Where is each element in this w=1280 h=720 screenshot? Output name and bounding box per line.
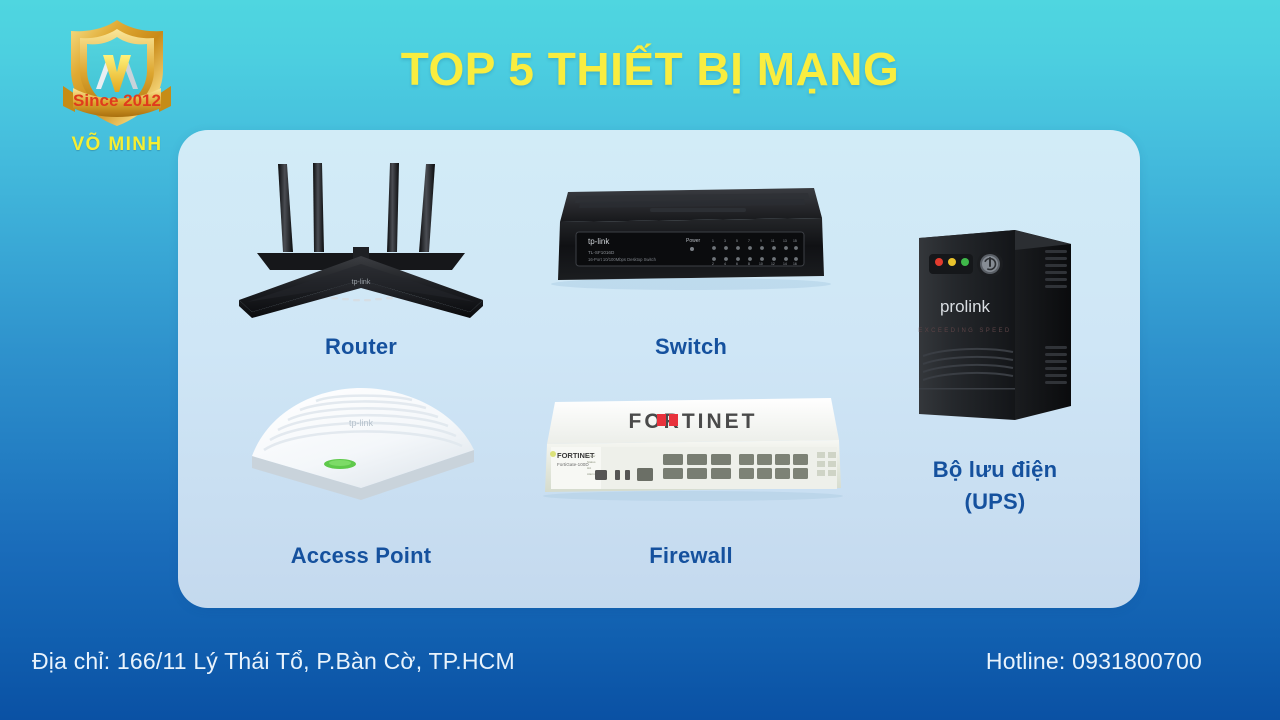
svg-text:12: 12 <box>771 262 775 266</box>
firewall-image: FORTINET FORTINET FortiGate-100D PowerSt… <box>526 378 856 518</box>
shield-icon: Since 2012 <box>55 14 179 132</box>
device-cell-switch: tp-link TL-SF1016D 16-Port 10/100Mbps De… <box>526 152 856 363</box>
svg-text:16: 16 <box>793 262 797 266</box>
svg-text:10: 10 <box>759 262 763 266</box>
ups-led-red <box>935 258 943 266</box>
switch-brand-mark: tp-link <box>588 237 610 246</box>
devices-card: tp-link Router <box>178 130 1140 608</box>
svg-text:15: 15 <box>793 239 797 243</box>
device-label-router: Router <box>196 331 526 363</box>
ups-label-line1: Bộ lưu điện <box>933 457 1057 482</box>
ups-led-yellow <box>948 258 956 266</box>
svg-text:13: 13 <box>783 239 787 243</box>
access-point-brand-mark: tp-link <box>349 418 374 428</box>
device-label-ups: Bộ lưu điện (UPS) <box>866 454 1124 518</box>
tp-link-switch-icon: tp-link TL-SF1016D 16-Port 10/100Mbps De… <box>546 152 836 324</box>
page-title: TOP 5 THIẾT BỊ MẠNG <box>200 44 1100 95</box>
gold-shield-logo-icon: Since 2012 <box>55 14 179 132</box>
ups-led-green <box>961 258 969 266</box>
svg-text:Status: Status <box>587 460 596 464</box>
brand-logo-block: Since 2012 VÕ MINH <box>42 14 192 156</box>
ups-label-line2: (UPS) <box>965 489 1026 514</box>
device-cell-access-point: tp-link Access Point <box>196 378 526 572</box>
firewall-model: FortiGate-100D <box>557 462 589 467</box>
router-brand-mark: tp-link <box>352 279 371 286</box>
ups-brand-mark: prolink <box>940 297 991 316</box>
device-label-switch: Switch <box>526 331 856 363</box>
firewall-brand-mark: FORTINET <box>629 410 758 433</box>
ups-tagline: EXCEEDING SPEED <box>918 328 1011 334</box>
device-cell-router: tp-link Router <box>196 152 526 363</box>
footer-hotline: Hotline: 0931800700 <box>986 648 1202 675</box>
switch-image: tp-link TL-SF1016D 16-Port 10/100Mbps De… <box>526 152 856 327</box>
device-cell-firewall: FORTINET FORTINET FortiGate-100D PowerSt… <box>526 378 856 572</box>
switch-model: TL-SF1016D <box>588 250 615 255</box>
ups-image: prolink EXCEEDING SPEED <box>866 210 1124 440</box>
router-image: tp-link <box>196 152 526 327</box>
device-label-access-point: Access Point <box>196 540 526 572</box>
ribbon-text: Since 2012 <box>73 91 161 110</box>
svg-text:9: 9 <box>760 239 762 243</box>
prolink-ups-icon: prolink EXCEEDING SPEED <box>895 210 1095 438</box>
svg-text:4: 4 <box>724 262 726 266</box>
svg-text:11: 11 <box>771 239 775 243</box>
footer-address: Địa chỉ: 166/11 Lý Thái Tổ, P.Bàn Cờ, TP… <box>32 648 515 675</box>
svg-text:Alarm: Alarm <box>587 472 595 476</box>
svg-text:1: 1 <box>712 239 714 243</box>
access-point-image: tp-link <box>196 378 526 518</box>
svg-text:3: 3 <box>724 239 726 243</box>
switch-model-subtitle: 16-Port 10/100Mbps Desktop Switch <box>588 257 657 262</box>
switch-power-label: Power <box>686 238 701 244</box>
svg-text:5: 5 <box>736 239 738 243</box>
tp-link-access-point-icon: tp-link <box>230 378 492 514</box>
svg-text:6: 6 <box>736 262 738 266</box>
svg-text:2: 2 <box>712 262 714 266</box>
tp-link-router-icon: tp-link <box>227 152 495 324</box>
svg-text:HA: HA <box>587 466 591 470</box>
svg-text:8: 8 <box>748 262 750 266</box>
device-label-firewall: Firewall <box>526 540 856 572</box>
svg-text:7: 7 <box>748 239 750 243</box>
brand-name: VÕ MINH <box>42 134 192 156</box>
svg-text:14: 14 <box>783 262 787 266</box>
svg-text:Power: Power <box>587 454 596 458</box>
fortinet-firewall-icon: FORTINET FORTINET FortiGate-100D PowerSt… <box>531 378 851 514</box>
footer-bar: Địa chỉ: 166/11 Lý Thái Tổ, P.Bàn Cờ, TP… <box>0 612 1280 720</box>
device-cell-ups: prolink EXCEEDING SPEED Bộ lưu điện (UPS… <box>866 210 1124 518</box>
